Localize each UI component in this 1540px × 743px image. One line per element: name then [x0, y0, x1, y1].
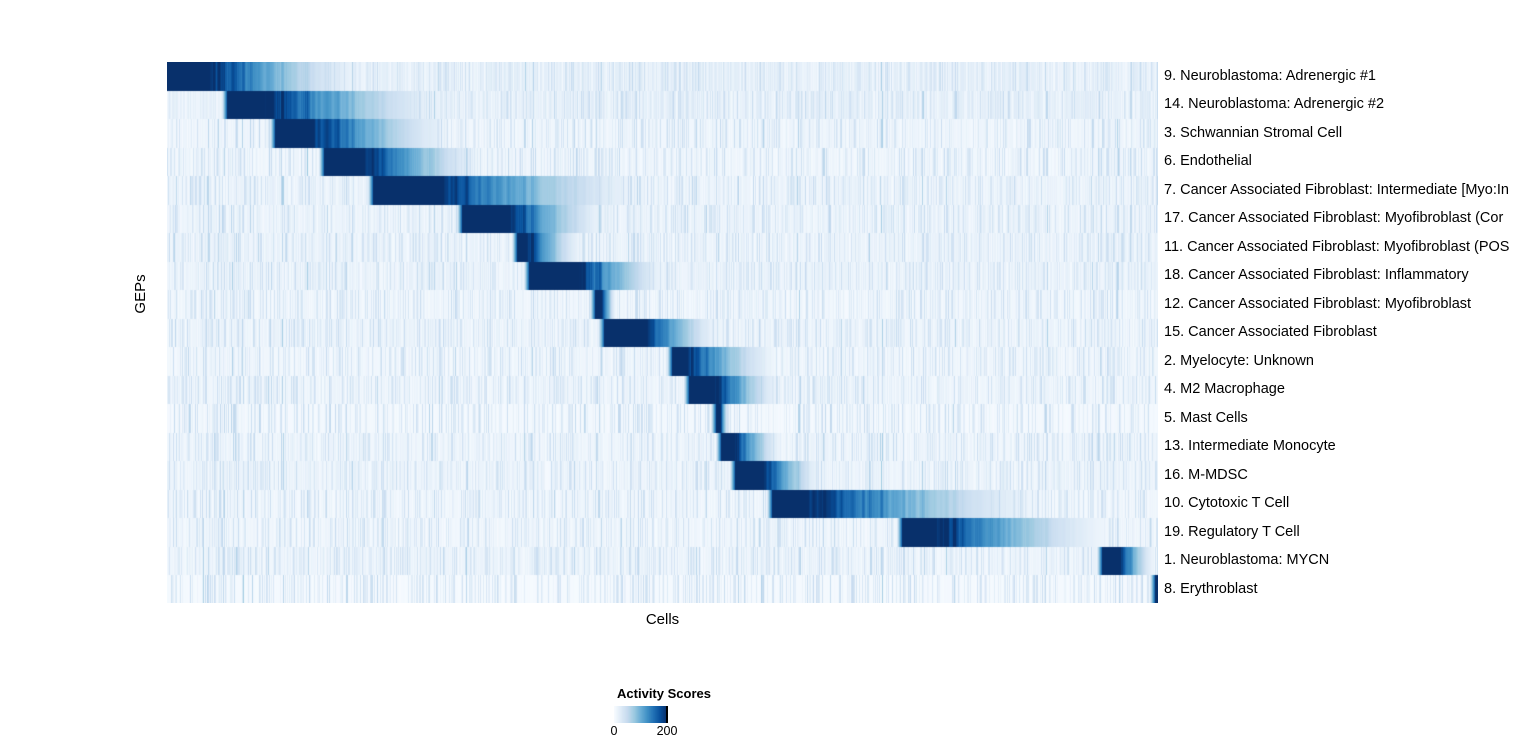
row-label: 4. M2 Macrophage	[1164, 375, 1285, 403]
colorbar-tickmark	[666, 706, 668, 723]
row-label: 19. Regulatory T Cell	[1164, 518, 1300, 546]
row-label: 5. Mast Cells	[1164, 404, 1248, 432]
heatmap-plot-area[interactable]	[167, 62, 1158, 603]
row-label: 11. Cancer Associated Fibroblast: Myofib…	[1164, 233, 1509, 261]
row-label: 2. Myelocyte: Unknown	[1164, 347, 1314, 375]
colorbar-title: Activity Scores	[560, 686, 768, 701]
row-label: 7. Cancer Associated Fibroblast: Interme…	[1164, 176, 1509, 204]
row-label: 9. Neuroblastoma: Adrenergic #1	[1164, 62, 1376, 90]
row-label: 1. Neuroblastoma: MYCN	[1164, 546, 1329, 574]
row-label: 3. Schwannian Stromal Cell	[1164, 119, 1342, 147]
row-label: 15. Cancer Associated Fibroblast	[1164, 318, 1377, 346]
heatmap-canvas[interactable]	[167, 62, 1158, 603]
row-label: 6. Endothelial	[1164, 147, 1252, 175]
heatmap-row-labels: 9. Neuroblastoma: Adrenergic #114. Neuro…	[1164, 62, 1540, 603]
row-label: 16. M-MDSC	[1164, 461, 1248, 489]
colorbar-gradient-canvas	[614, 706, 667, 723]
row-label: 12. Cancer Associated Fibroblast: Myofib…	[1164, 290, 1471, 318]
x-axis-title: Cells	[167, 611, 1158, 628]
y-axis-title: GEPs	[132, 244, 156, 344]
colorbar-tick-label: 200	[657, 724, 678, 738]
row-label: 13. Intermediate Monocyte	[1164, 432, 1336, 460]
row-label: 8. Erythroblast	[1164, 575, 1258, 603]
colorbar-tick-label: 0	[611, 724, 618, 738]
row-label: 17. Cancer Associated Fibroblast: Myofib…	[1164, 204, 1503, 232]
row-label: 14. Neuroblastoma: Adrenergic #2	[1164, 90, 1384, 118]
heatmap-figure: GEPs Cells 9. Neuroblastoma: Adrenergic …	[0, 0, 1540, 743]
row-label: 18. Cancer Associated Fibroblast: Inflam…	[1164, 261, 1469, 289]
colorbar-gradient	[614, 706, 667, 723]
colorbar-legend: Activity Scores 0200	[560, 686, 820, 738]
row-label: 10. Cytotoxic T Cell	[1164, 489, 1289, 517]
